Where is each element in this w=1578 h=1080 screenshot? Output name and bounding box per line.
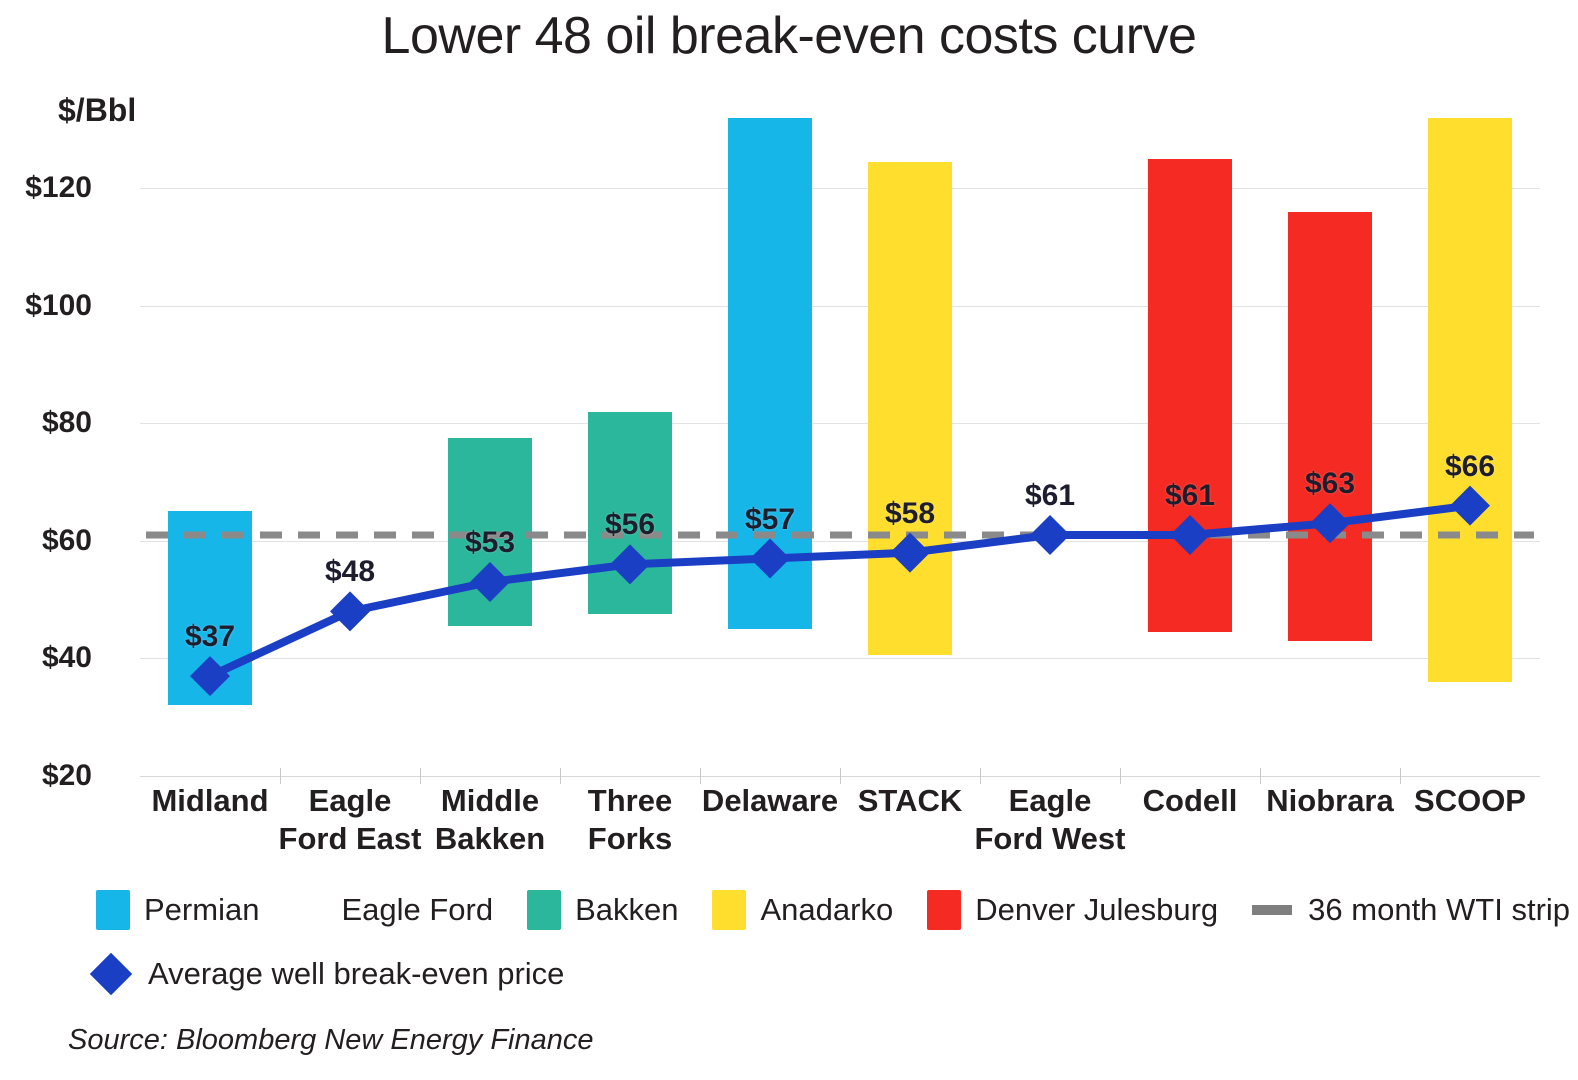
chart-root: Lower 48 oil break-even costs curve $/Bb… [0, 0, 1578, 1080]
value-label-codell: $61 [1165, 479, 1215, 513]
x-axis-tick-eagle-ford-west: EagleFord West [975, 782, 1126, 858]
x-axis-tick-delaware: Delaware [702, 782, 838, 820]
x-axis-separator [980, 768, 981, 784]
source-note: Source: Bloomberg New Energy Finance [68, 1024, 593, 1057]
legend-label: Average well break-even price [148, 956, 564, 992]
value-label-eagle-ford-west: $61 [1025, 479, 1075, 513]
y-axis-tick-label: $100 [0, 289, 92, 323]
bar-scoop[interactable] [1428, 118, 1512, 682]
bar-stack[interactable] [868, 162, 952, 656]
x-axis-separator [840, 768, 841, 784]
y-axis-tick-label: $40 [0, 641, 92, 675]
page-title: Lower 48 oil break-even costs curve [0, 6, 1578, 66]
x-axis-separator [700, 768, 701, 784]
legend-label: Denver Julesburg [975, 892, 1218, 928]
gridline [140, 188, 1540, 189]
y-axis-tick-label: $60 [0, 524, 92, 558]
y-axis-tick-label: $120 [0, 171, 92, 205]
legend-color-swatch [96, 890, 130, 930]
average-break-even-polyline [210, 506, 1470, 676]
y-axis-tick-label: $20 [0, 759, 92, 793]
value-label-three-forks: $56 [605, 508, 655, 542]
legend-item-average-well-break-even-price[interactable]: Average well break-even price [96, 956, 564, 992]
legend-secondary: Average well break-even price [96, 952, 598, 996]
x-axis-separator [1400, 768, 1401, 784]
x-axis-separator [420, 768, 421, 784]
legend-item-eagle-ford[interactable]: Eagle Ford [293, 890, 493, 930]
legend-color-swatch [527, 890, 561, 930]
legend-color-swatch [927, 890, 961, 930]
y-axis-unit-label: $/Bbl [58, 92, 136, 129]
value-label-eagle-ford-east: $48 [325, 555, 375, 589]
value-label-niobrara: $63 [1305, 467, 1355, 501]
value-label-midland: $37 [185, 620, 235, 654]
x-axis-separator [1260, 768, 1261, 784]
legend-item-permian[interactable]: Permian [96, 890, 259, 930]
bar-midland[interactable] [168, 511, 252, 705]
legend-item-denver-julesburg[interactable]: Denver Julesburg [927, 890, 1218, 930]
legend-color-swatch [712, 890, 746, 930]
plot-area: $20$40$60$80$100$120 $37$48$53$56$57$58$… [140, 100, 1540, 776]
legend-item-anadarko[interactable]: Anadarko [712, 890, 893, 930]
bar-eagle-ford-west[interactable] [1008, 317, 1092, 605]
x-axis-tick-niobrara: Niobrara [1266, 782, 1393, 820]
legend-item-36-month-wti-strip-price[interactable]: 36 month WTI strip price [1252, 892, 1578, 928]
bar-niobrara[interactable] [1288, 212, 1372, 641]
value-label-stack: $58 [885, 497, 935, 531]
bar-codell[interactable] [1148, 159, 1232, 632]
legend-color-swatch [293, 890, 327, 930]
legend-item-bakken[interactable]: Bakken [527, 890, 678, 930]
legend-diamond-marker [90, 953, 132, 995]
y-axis-tick-label: $80 [0, 406, 92, 440]
value-label-middle-bakken: $53 [465, 526, 515, 560]
value-label-scoop: $66 [1445, 450, 1495, 484]
x-axis-separator [560, 768, 561, 784]
x-axis-tick-three-forks: ThreeForks [588, 782, 672, 858]
legend-label: Eagle Ford [341, 892, 493, 928]
legend-line-marker [1252, 905, 1292, 915]
x-axis-tick-midland: Midland [151, 782, 268, 820]
legend-primary: PermianEagle FordBakkenAnadarkoDenver Ju… [96, 888, 1578, 932]
legend-label: Permian [144, 892, 259, 928]
gridline [140, 658, 1540, 659]
bar-delaware[interactable] [728, 118, 812, 629]
value-label-delaware: $57 [745, 503, 795, 537]
x-axis-tick-scoop: SCOOP [1414, 782, 1526, 820]
legend-label: Anadarko [760, 892, 893, 928]
x-axis-tick-eagle-ford-east: EagleFord East [279, 782, 422, 858]
x-axis: MidlandEagleFord EastMiddleBakkenThreeFo… [140, 782, 1540, 874]
legend-label: Bakken [575, 892, 678, 928]
x-axis-separator [280, 768, 281, 784]
x-axis-tick-codell: Codell [1143, 782, 1238, 820]
x-axis-tick-stack: STACK [858, 782, 962, 820]
x-axis-separator [1120, 768, 1121, 784]
legend-label: 36 month WTI strip price [1308, 892, 1578, 928]
x-axis-tick-middle-bakken: MiddleBakken [435, 782, 545, 858]
